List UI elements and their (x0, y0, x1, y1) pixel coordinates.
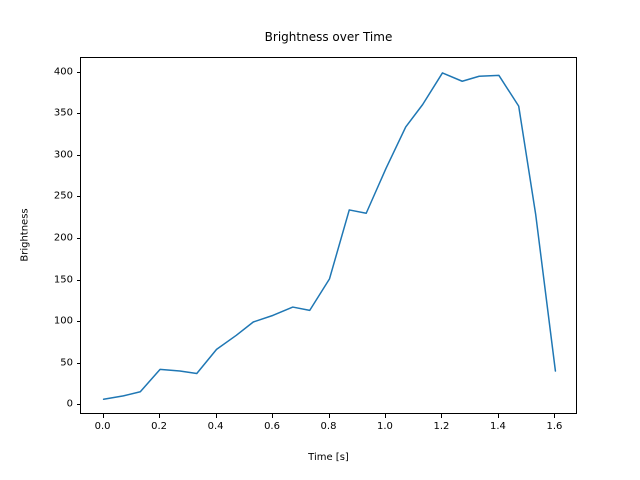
y-tick-mark (77, 155, 81, 156)
line-series-brightness (81, 58, 578, 415)
x-tick-mark (103, 414, 104, 418)
data-polyline (104, 73, 556, 399)
y-tick-mark (77, 280, 81, 281)
x-tick-mark (272, 414, 273, 418)
chart-figure: Brightness over Time Brightness 05010015… (0, 0, 640, 480)
y-axis-label: Brightness (20, 208, 31, 261)
x-tick-mark (216, 414, 217, 418)
y-tick-label: 250 (40, 191, 73, 202)
y-tick-mark (77, 321, 81, 322)
x-tick-label: 1.0 (377, 421, 393, 432)
x-tick-label: 1.2 (434, 421, 450, 432)
y-tick-mark (77, 113, 81, 114)
y-tick-label: 300 (40, 149, 73, 160)
y-tick-label: 100 (40, 316, 73, 327)
y-tick-mark (77, 404, 81, 405)
x-tick-label: 0.8 (321, 421, 337, 432)
x-tick-label: 1.4 (490, 421, 506, 432)
x-axis-label: Time [s] (80, 452, 577, 463)
y-tick-label: 350 (40, 108, 73, 119)
y-tick-mark (77, 363, 81, 364)
y-tick-label: 400 (40, 66, 73, 77)
x-tick-mark (554, 414, 555, 418)
y-tick-label: 50 (40, 357, 73, 368)
y-tick-label: 200 (40, 232, 73, 243)
x-tick-label: 0.4 (208, 421, 224, 432)
y-tick-mark (77, 238, 81, 239)
x-tick-mark (441, 414, 442, 418)
chart-title: Brightness over Time (80, 29, 577, 45)
y-tick-label: 0 (40, 399, 73, 410)
y-tick-mark (77, 72, 81, 73)
x-tick-label: 1.6 (546, 421, 562, 432)
x-tick-mark (385, 414, 386, 418)
x-tick-mark (498, 414, 499, 418)
plot-area (80, 57, 577, 414)
y-tick-label: 150 (40, 274, 73, 285)
x-tick-label: 0.6 (264, 421, 280, 432)
y-tick-mark (77, 196, 81, 197)
x-tick-label: 0.2 (151, 421, 167, 432)
x-tick-mark (329, 414, 330, 418)
x-tick-mark (159, 414, 160, 418)
x-tick-label: 0.0 (95, 421, 111, 432)
